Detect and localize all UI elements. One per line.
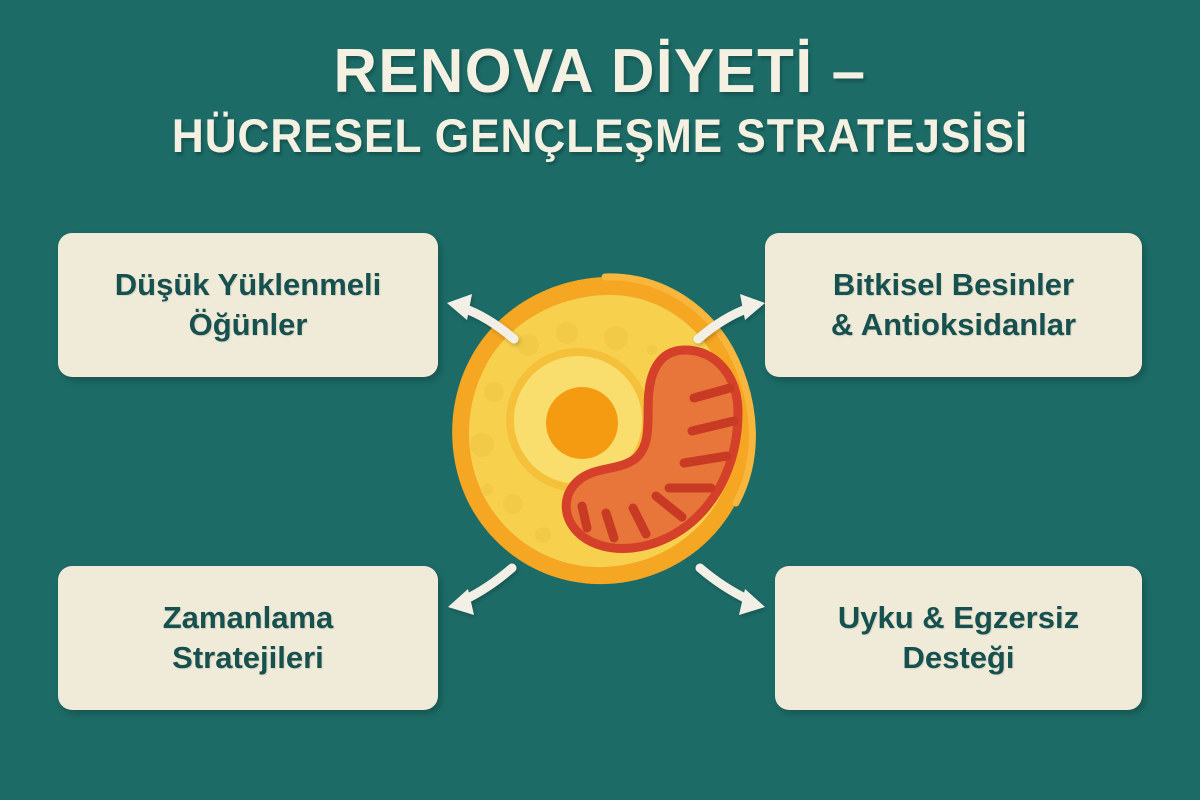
card-dusuk-yuklenmeli-ogunler[interactable]: Düşük Yüklenmeli Öğünler [58, 233, 438, 377]
card-label: Bitkisel Besinler & Antioksidanlar [831, 265, 1076, 345]
card-label: Düşük Yüklenmeli Öğünler [115, 265, 381, 345]
title-line-primary: RENOVA DİYETİ – [18, 38, 1182, 106]
infographic-canvas: RENOVA DİYETİ – HÜCRESEL GENÇLEŞME STRAT… [0, 0, 1200, 800]
title-line-secondary: HÜCRESEL GENÇLEŞME STRATEJSİSİ [36, 108, 1164, 164]
card-uyku-egzersiz-destegi[interactable]: Uyku & Egzersiz Desteği [775, 566, 1142, 710]
card-label: Zamanlama Stratejileri [163, 598, 334, 678]
card-label: Uyku & Egzersiz Desteği [838, 598, 1079, 678]
card-bitkisel-besinler-antioksidanlar[interactable]: Bitkisel Besinler & Antioksidanlar [765, 233, 1142, 377]
page-title: RENOVA DİYETİ – HÜCRESEL GENÇLEŞME STRAT… [0, 38, 1200, 164]
cell-diagram-illustration [430, 255, 780, 605]
card-zamanlama-stratejileri[interactable]: Zamanlama Stratejileri [58, 566, 438, 710]
nucleolus-icon [546, 387, 618, 459]
